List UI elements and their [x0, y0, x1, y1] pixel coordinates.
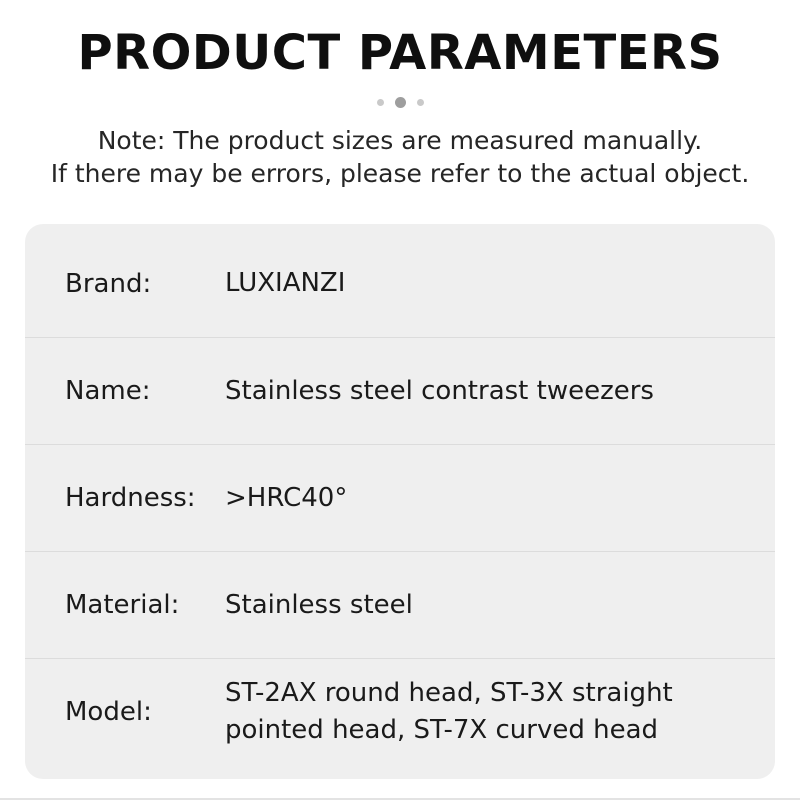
spec-value-brand-line-1: LUXIANZI	[225, 265, 731, 303]
spec-label-material: Material:	[65, 589, 225, 622]
table-row: Material: Stainless steel	[25, 551, 775, 658]
spec-label-model: Model:	[65, 696, 225, 729]
table-row: Model: ST-2AX round head, ST-3X straight…	[25, 658, 775, 765]
note-line-2: If there may be errors, please refer to …	[51, 157, 750, 190]
spec-value-name-line-1: Stainless steel contrast tweezers	[225, 373, 731, 411]
page-title: PRODUCT PARAMETERS	[77, 28, 722, 78]
product-parameters-page: PRODUCT PARAMETERS Note: The product siz…	[0, 0, 800, 800]
spec-value-model-line-1: ST-2AX round head, ST-3X straight	[225, 675, 731, 713]
spec-value-name: Stainless steel contrast tweezers	[225, 373, 731, 411]
table-row: Name: Stainless steel contrast tweezers	[25, 337, 775, 444]
spec-label-name: Name:	[65, 375, 225, 408]
dot-small-right	[417, 99, 424, 106]
spec-value-material-line-1: Stainless steel	[225, 587, 731, 625]
dot-large-center	[395, 97, 406, 108]
spec-value-brand: LUXIANZI	[225, 265, 731, 303]
spec-value-model: ST-2AX round head, ST-3X straight pointe…	[225, 675, 731, 750]
spec-value-material: Stainless steel	[225, 587, 731, 625]
spec-label-brand: Brand:	[65, 268, 225, 301]
spec-value-hardness: >HRC40°	[225, 480, 731, 518]
dot-separator	[377, 96, 424, 108]
spec-label-hardness: Hardness:	[65, 482, 225, 515]
dot-small-left	[377, 99, 384, 106]
note-line-1: Note: The product sizes are measured man…	[98, 126, 703, 155]
table-row: Brand: LUXIANZI	[25, 230, 775, 337]
spec-value-model-line-2: pointed head, ST-7X curved head	[225, 712, 731, 750]
table-row: Hardness: >HRC40°	[25, 444, 775, 551]
measurement-note: Note: The product sizes are measured man…	[51, 124, 750, 190]
spec-value-hardness-line-1: >HRC40°	[225, 480, 731, 518]
spec-table: Brand: LUXIANZI Name: Stainless steel co…	[25, 224, 775, 779]
